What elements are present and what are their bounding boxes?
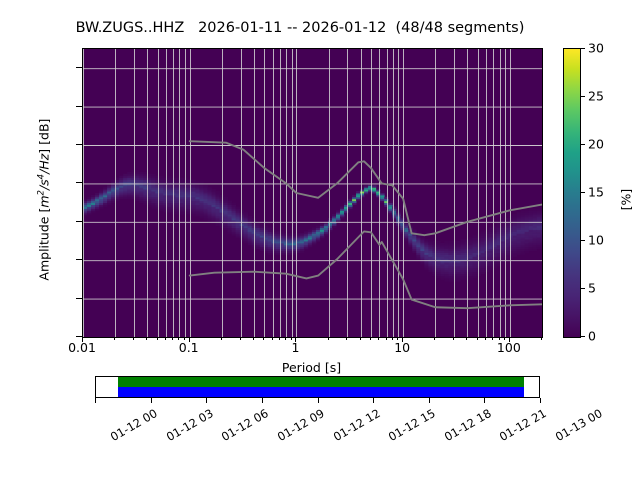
time-tick-mark <box>262 398 263 403</box>
noise-model-curves <box>83 49 542 337</box>
time-tick-label: 01-13 00 <box>553 406 605 444</box>
colorbar-tick-mark <box>580 144 585 145</box>
x-minor-tick-mark <box>133 337 134 340</box>
x-tick-label: 1 <box>255 340 335 355</box>
x-tick-label: 0.01 <box>42 340 122 355</box>
x-minor-tick-mark <box>392 337 393 340</box>
coverage-segment-blue <box>118 387 524 397</box>
x-minor-tick-mark <box>178 337 179 340</box>
x-minor-tick-mark <box>386 337 387 340</box>
y-tick-mark <box>76 144 82 145</box>
colorbar-tick-label: 0 <box>588 329 596 344</box>
colorbar-tick-mark <box>580 192 585 193</box>
x-minor-tick-mark <box>291 337 292 340</box>
y-tick-mark <box>76 298 82 299</box>
time-tick-mark <box>151 398 152 403</box>
time-tick-mark <box>373 398 374 403</box>
time-tick-label: 01-12 18 <box>442 406 494 444</box>
time-tick-mark <box>429 398 430 403</box>
x-axis-label: Period [s] <box>82 360 541 375</box>
x-minor-tick-mark <box>346 337 347 340</box>
time-tick-mark <box>206 398 207 403</box>
x-minor-tick-mark <box>272 337 273 340</box>
time-tick-mark <box>540 398 541 403</box>
time-tick-label: 01-12 15 <box>386 406 438 444</box>
y-tick-mark <box>76 259 82 260</box>
time-tick-mark <box>95 398 96 403</box>
colorbar-tick-label: 15 <box>588 185 604 200</box>
time-tick-label: 01-12 21 <box>497 406 549 444</box>
colorbar-tick-mark <box>580 96 585 97</box>
y-axis-unit-den-exp: 4 <box>36 174 46 179</box>
colorbar-tick-mark <box>580 240 585 241</box>
x-minor-tick-mark <box>504 337 505 340</box>
page-title: BW.ZUGS..HHZ 2026-01-11 -- 2026-01-12 (4… <box>0 20 600 36</box>
time-tick-mark <box>484 398 485 403</box>
data-coverage-bar[interactable] <box>95 376 540 398</box>
y-tick-mark <box>76 182 82 183</box>
x-minor-tick-mark <box>453 337 454 340</box>
time-tick-mark <box>318 398 319 403</box>
time-tick-label: 01-12 12 <box>330 406 382 444</box>
x-minor-tick-mark <box>492 337 493 340</box>
x-tick-label: 100 <box>469 340 549 355</box>
x-minor-tick-mark <box>240 337 241 340</box>
x-minor-tick-mark <box>485 337 486 340</box>
y-tick-mark <box>76 221 82 222</box>
y-axis-unit-den: /s <box>37 179 52 190</box>
x-minor-tick-mark <box>263 337 264 340</box>
x-minor-tick-mark <box>285 337 286 340</box>
x-minor-tick-mark <box>477 337 478 340</box>
colorbar-tick-label: 30 <box>588 41 604 56</box>
y-axis-label-suffix: ] [dB] <box>37 119 52 154</box>
colorbar-tick-label: 20 <box>588 137 604 152</box>
x-minor-tick-mark <box>499 337 500 340</box>
colorbar-tick-mark <box>580 336 585 337</box>
y-axis-label-prefix: Amplitude [ <box>37 208 52 281</box>
colorbar-tick-mark <box>580 48 585 49</box>
y-axis-unit-num-exp: 2 <box>36 190 46 195</box>
x-minor-tick-mark <box>397 337 398 340</box>
time-tick-label: 01-12 06 <box>219 406 271 444</box>
x-minor-tick-mark <box>370 337 371 340</box>
x-minor-tick-mark <box>541 337 542 340</box>
x-minor-tick-mark <box>360 337 361 340</box>
x-tick-label: 0.1 <box>149 340 229 355</box>
x-minor-tick-mark <box>146 337 147 340</box>
colorbar-tick-label: 5 <box>588 281 596 296</box>
colorbar-tick-mark <box>580 288 585 289</box>
x-tick-label: 10 <box>362 340 442 355</box>
colorbar-label: [%] <box>619 140 634 260</box>
x-minor-tick-mark <box>434 337 435 340</box>
x-minor-tick-mark <box>253 337 254 340</box>
x-minor-tick-mark <box>184 337 185 340</box>
x-minor-tick-mark <box>466 337 467 340</box>
x-minor-tick-mark <box>328 337 329 340</box>
x-minor-tick-mark <box>172 337 173 340</box>
coverage-segment-green <box>118 377 524 387</box>
time-tick-label: 01-12 03 <box>164 406 216 444</box>
y-axis-label: Amplitude [m2/s4/Hz] [dB] <box>36 50 51 350</box>
x-minor-tick-mark <box>165 337 166 340</box>
y-tick-mark <box>76 106 82 107</box>
y-axis-unit-hz: /Hz <box>37 154 52 174</box>
colorbar-tick-label: 25 <box>588 89 604 104</box>
x-minor-tick-mark <box>221 337 222 340</box>
time-tick-label: 01-12 09 <box>275 406 327 444</box>
ppsd-figure: BW.ZUGS..HHZ 2026-01-11 -- 2026-01-12 (4… <box>0 0 640 480</box>
colorbar[interactable] <box>563 48 581 338</box>
y-axis-unit-num: m <box>37 195 52 207</box>
x-minor-tick-mark <box>279 337 280 340</box>
y-tick-mark <box>76 67 82 68</box>
x-minor-tick-mark <box>157 337 158 340</box>
x-minor-tick-mark <box>114 337 115 340</box>
time-tick-label: 01-12 00 <box>108 406 160 444</box>
colorbar-tick-label: 10 <box>588 233 604 248</box>
x-minor-tick-mark <box>378 337 379 340</box>
ppsd-plot-area[interactable] <box>82 48 543 338</box>
